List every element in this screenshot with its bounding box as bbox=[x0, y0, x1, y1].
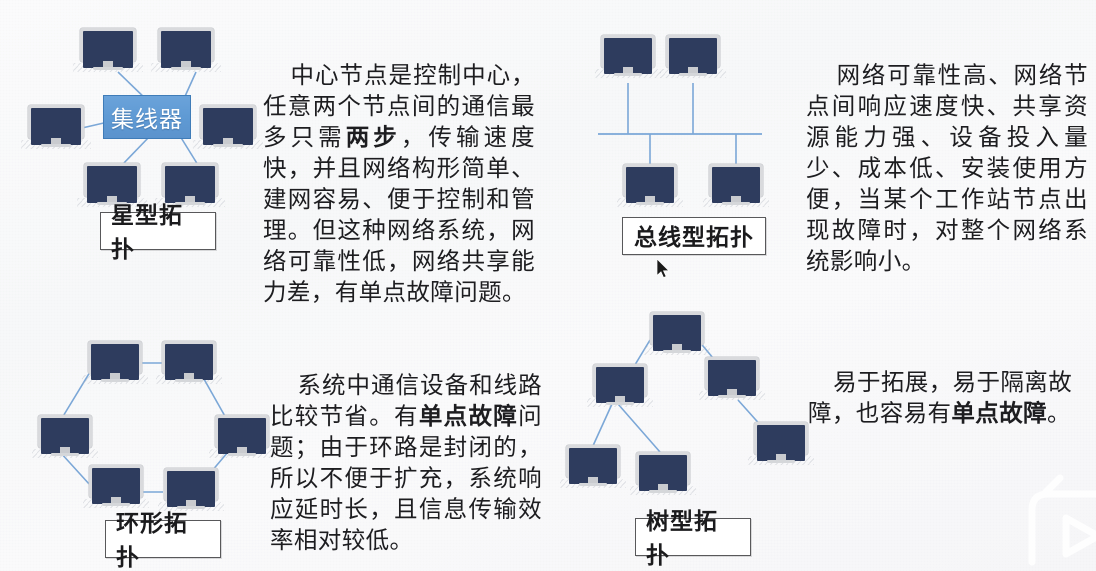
tree-topology-description-text: 易于拓展，易于隔离故障，也容易有单点故障。 bbox=[808, 370, 1072, 427]
ring-node-top-right bbox=[162, 341, 216, 386]
star-node-top-left bbox=[80, 28, 136, 74]
bus-node-top-right bbox=[666, 35, 720, 80]
star-topology-panel: 集线器 星型拓扑 bbox=[0, 0, 250, 265]
hub-box: 集线器 bbox=[103, 95, 191, 139]
bus-node-bottom-right bbox=[709, 164, 763, 209]
tree-node-leaf-3 bbox=[754, 422, 808, 467]
video-play-logo-icon bbox=[1018, 466, 1096, 571]
tree-topology-description: 易于拓展，易于隔离故障，也容易有单点故障。 bbox=[808, 337, 1090, 461]
bus-node-top-left bbox=[601, 35, 655, 80]
bus-topology-panel: 总线型拓扑 bbox=[560, 0, 820, 265]
ring-node-top-left bbox=[88, 341, 142, 386]
tree-node-left-branch bbox=[593, 364, 647, 409]
star-node-right bbox=[200, 105, 256, 151]
bus-topology-description: 网络可靠性高、网络节点间响应速度快、共享资源能力强、设备投入量少、成本低、安装使… bbox=[806, 30, 1088, 309]
ring-node-right bbox=[215, 415, 269, 460]
tree-topology-caption: 树型拓扑 bbox=[635, 518, 751, 556]
star-topology-caption-label: 星型拓扑 bbox=[111, 196, 205, 264]
ring-topology-panel: 环形拓扑 bbox=[0, 300, 250, 571]
ring-topology-description: 系统中通信设备和线路比较节省。有单点故障问题；由于环路是封闭的，所以不便于扩充，… bbox=[270, 340, 542, 571]
star-topology-description: 中心节点是控制中心，任意两个节点间的通信最多只需两步，传输速度快，并且网络构形简… bbox=[263, 30, 535, 340]
bus-topology-description-text: 网络可靠性高、网络节点间响应速度快、共享资源能力强、设备投入量少、成本低、安装使… bbox=[806, 63, 1088, 275]
bus-topology-caption: 总线型拓扑 bbox=[622, 217, 766, 255]
ring-topology-description-text: 系统中通信设备和线路比较节省。有单点故障问题；由于环路是封闭的，所以不便于扩充，… bbox=[270, 373, 542, 554]
bus-node-bottom-left bbox=[623, 164, 677, 209]
tree-topology-panel: 树型拓扑 bbox=[550, 300, 830, 571]
tree-node-root bbox=[650, 312, 704, 357]
bus-topology-caption-label: 总线型拓扑 bbox=[634, 218, 754, 252]
arrow-pointer-icon bbox=[657, 259, 671, 280]
tree-topology-caption-label: 树型拓扑 bbox=[646, 502, 740, 570]
tree-node-right-branch bbox=[705, 357, 759, 402]
tree-node-leaf-2 bbox=[636, 452, 690, 497]
ring-topology-caption: 环形拓扑 bbox=[105, 520, 221, 558]
topology-slide: 集线器 星型拓扑 中心节点是控制中心，任意两个节点间的通信最多只需两步，传输速度… bbox=[0, 0, 1096, 571]
star-node-top-right bbox=[158, 28, 214, 74]
tree-node-leaf-1 bbox=[566, 445, 620, 490]
ring-node-left bbox=[38, 415, 92, 460]
star-topology-description-text: 中心节点是控制中心，任意两个节点间的通信最多只需两步，传输速度快，并且网络构形简… bbox=[263, 63, 535, 306]
ring-topology-caption-label: 环形拓扑 bbox=[116, 504, 210, 571]
hub-label: 集线器 bbox=[111, 100, 183, 134]
star-node-left bbox=[28, 105, 84, 151]
star-topology-caption: 星型拓扑 bbox=[100, 212, 216, 250]
